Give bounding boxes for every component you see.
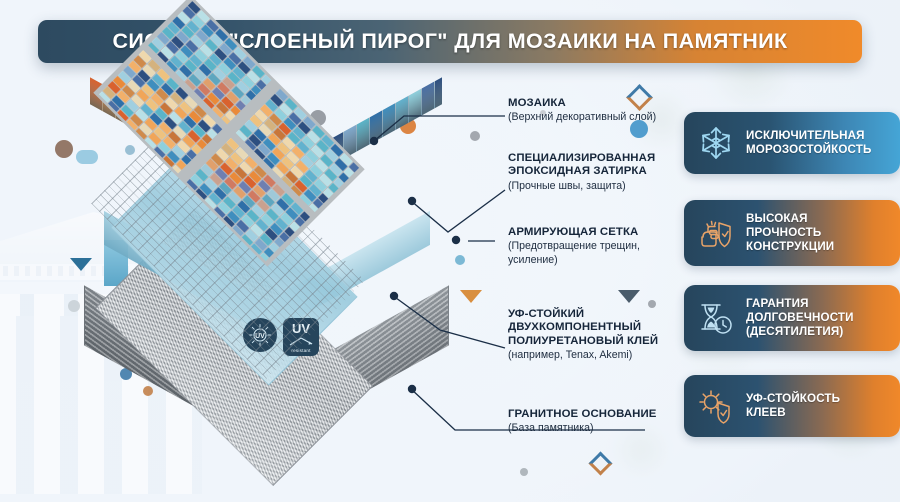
feature-card-label: УФ-СТОЙКОСТЬ КЛЕЕВ [746,392,840,419]
callout-subtitle: (База памятника) [508,422,656,435]
callout-title-2: ДВУХКОМПОНЕНТНЫЙ [508,321,658,334]
feature-card-frost[interactable]: ИСКЛЮЧИТЕЛЬНАЯ МОРОЗОСТОЙКОСТЬ [684,112,900,174]
callout-subtitle: (Предотвращение трещин, [508,240,640,253]
callout-mesh: АРМИРУЮЩАЯ СЕТКА (Предотвращение трещин,… [508,226,640,267]
feature-card-strength[interactable]: ВЫСОКАЯ ПРОЧНОСТЬ КОНСТРУКЦИИ [684,200,900,266]
callout-subtitle: (Верхний декоративный слой) [508,111,656,124]
callout-title: ГРАНИТНОЕ ОСНОВАНИЕ [508,408,656,421]
callout-adhesive: УФ-СТОЙКИЙ ДВУХКОМПОНЕНТНЫЙ ПОЛИУРЕТАНОВ… [508,308,658,362]
fist-shield-icon [695,212,737,254]
callout-subtitle: (например, Tenax, Akemi) [508,349,658,362]
snowflake-icon [695,122,737,164]
feature-card-uv[interactable]: УФ-СТОЙКОСТЬ КЛЕЕВ [684,375,900,437]
feature-card-durability[interactable]: ГАРАНТИЯ ДОЛГОВЕЧНОСТИ (ДЕСЯТИЛЕТИЯ) [684,285,900,351]
feature-card-label: ГАРАНТИЯ ДОЛГОВЕЧНОСТИ (ДЕСЯТИЛЕТИЯ) [746,297,854,338]
callout-title-2: ЭПОКСИДНАЯ ЗАТИРКА [508,165,655,178]
feature-card-label: ИСКЛЮЧИТЕЛЬНАЯ МОРОЗОСТОЙКОСТЬ [746,129,871,156]
callout-subtitle-2: усиление) [508,254,640,267]
callout-granite: ГРАНИТНОЕ ОСНОВАНИЕ (База памятника) [508,408,656,435]
callout-title: АРМИРУЮЩАЯ СЕТКА [508,226,640,239]
callout-title: МОЗАИКА [508,97,656,110]
infographic-canvas: СИСТЕМА "СЛОЕНЫЙ ПИРОГ" ДЛЯ МОЗАИКИ НА П… [0,0,900,502]
hourglass-clock-icon [695,297,737,339]
callout-subtitle: (Прочные швы, защита) [508,180,655,193]
callout-grout: СПЕЦИАЛИЗИРОВАННАЯ ЭПОКСИДНАЯ ЗАТИРКА (П… [508,152,655,193]
callout-mosaic: МОЗАИКА (Верхний декоративный слой) [508,97,656,124]
callout-title-3: ПОЛИУРЕТАНОВЫЙ КЛЕЙ [508,335,658,348]
callout-title: УФ-СТОЙКИЙ [508,308,658,321]
feature-card-label: ВЫСОКАЯ ПРОЧНОСТЬ КОНСТРУКЦИИ [746,212,834,253]
callout-title: СПЕЦИАЛИЗИРОВАННАЯ [508,152,655,165]
sun-shield-icon [695,385,737,427]
